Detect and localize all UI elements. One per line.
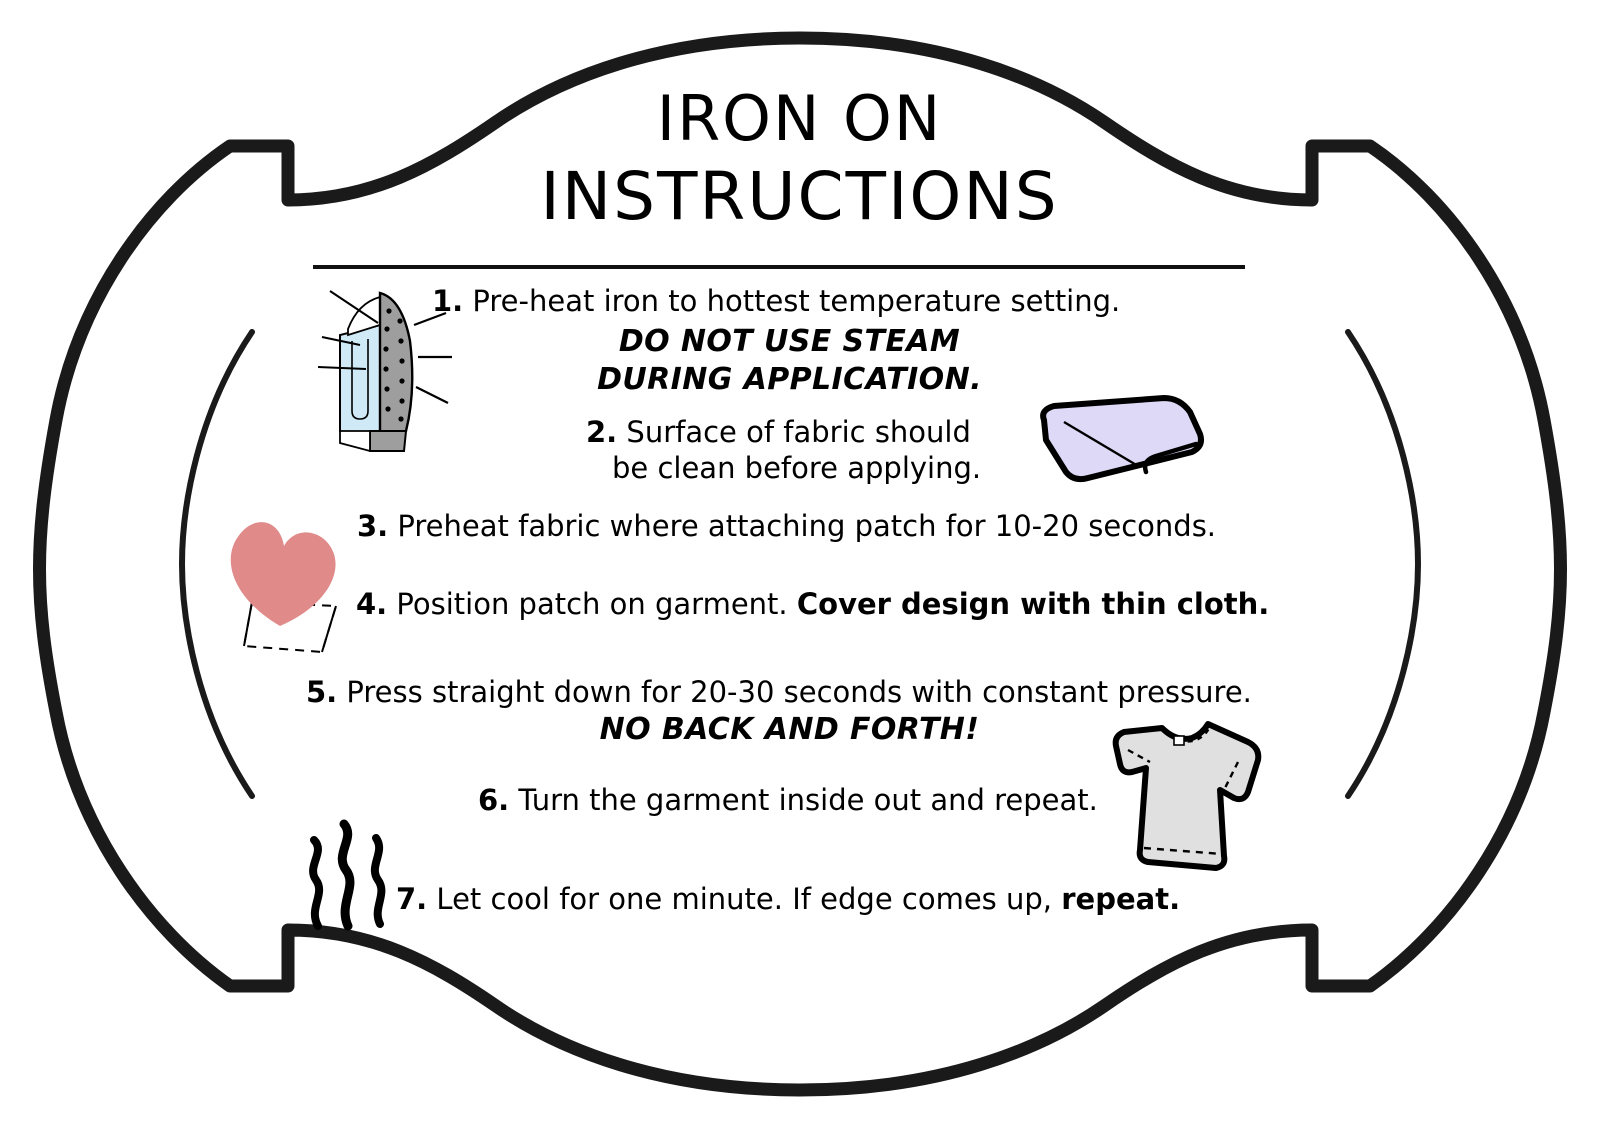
step-6-text: Turn the garment inside out and repeat. xyxy=(518,783,1097,817)
step-5: 5. Press straight down for 20-30 seconds… xyxy=(306,674,1252,712)
towel-illustration xyxy=(1004,386,1210,486)
step-2-text-line-1: Surface of fabric should xyxy=(626,415,970,449)
tshirt-illustration xyxy=(1098,716,1278,876)
iron-on-instructions-card: IRON ON INSTRUCTIONS 1. Pre-heat iron to… xyxy=(0,0,1599,1127)
step-7-text: Let cool for one minute. If edge comes u… xyxy=(436,882,1061,916)
step-2-line-2: be clean before applying. xyxy=(612,450,981,488)
shirt-body xyxy=(1116,724,1259,868)
step-5-emphasis-text: NO BACK AND FORTH! xyxy=(600,710,980,749)
step-3: 3. Preheat fabric where attaching patch … xyxy=(357,508,1216,546)
iron-illustration xyxy=(318,283,454,455)
step-4-text: Position patch on garment. xyxy=(396,587,796,621)
title-line-1: IRON ON xyxy=(0,88,1599,150)
step-7-bold-text: repeat. xyxy=(1061,882,1180,916)
step-2-number: 2. xyxy=(586,415,617,449)
step-3-text: Preheat fabric where attaching patch for… xyxy=(397,509,1216,543)
step-1-emphasis-line-1: DO NOT USE STEAM xyxy=(0,322,1599,361)
step-7: 7. Let cool for one minute. If edge come… xyxy=(396,881,1180,919)
page-title: IRON ON INSTRUCTIONS xyxy=(0,88,1599,230)
step-1-text: Pre-heat iron to hottest temperature set… xyxy=(472,284,1120,318)
steam-wave-3 xyxy=(375,838,382,924)
step-2-text-line-2: be clean before applying. xyxy=(612,451,981,485)
title-divider xyxy=(313,265,1245,269)
step-2-line-1: 2. Surface of fabric should xyxy=(586,414,971,452)
steam-wave-1 xyxy=(313,840,319,926)
step-1-emphasis-line-2: DURING APPLICATION. xyxy=(0,360,1599,399)
step-1-emphasis-line-2-text: DURING APPLICATION. xyxy=(597,360,982,399)
step-5-text: Press straight down for 20-30 seconds wi… xyxy=(346,675,1251,709)
step-3-number: 3. xyxy=(357,509,388,543)
title-line-2: INSTRUCTIONS xyxy=(0,164,1599,230)
step-1-emphasis-line-1-text: DO NOT USE STEAM xyxy=(619,322,960,361)
heart-patch-illustration xyxy=(218,506,358,656)
step-4: 4. Position patch on garment. Cover desi… xyxy=(356,586,1269,624)
steam-illustration xyxy=(298,812,398,932)
step-5-number: 5. xyxy=(306,675,337,709)
steam-wave-2 xyxy=(342,824,350,926)
step-6-number: 6. xyxy=(478,783,509,817)
step-4-bold-text: Cover design with thin cloth. xyxy=(797,587,1269,621)
step-4-number: 4. xyxy=(356,587,387,621)
step-5-emphasis-line: NO BACK AND FORTH! xyxy=(0,710,1599,749)
towel-body xyxy=(1043,398,1201,479)
step-1: 1. Pre-heat iron to hottest temperature … xyxy=(432,283,1120,321)
step-7-number: 7. xyxy=(396,882,427,916)
step-6: 6. Turn the garment inside out and repea… xyxy=(478,782,1098,820)
